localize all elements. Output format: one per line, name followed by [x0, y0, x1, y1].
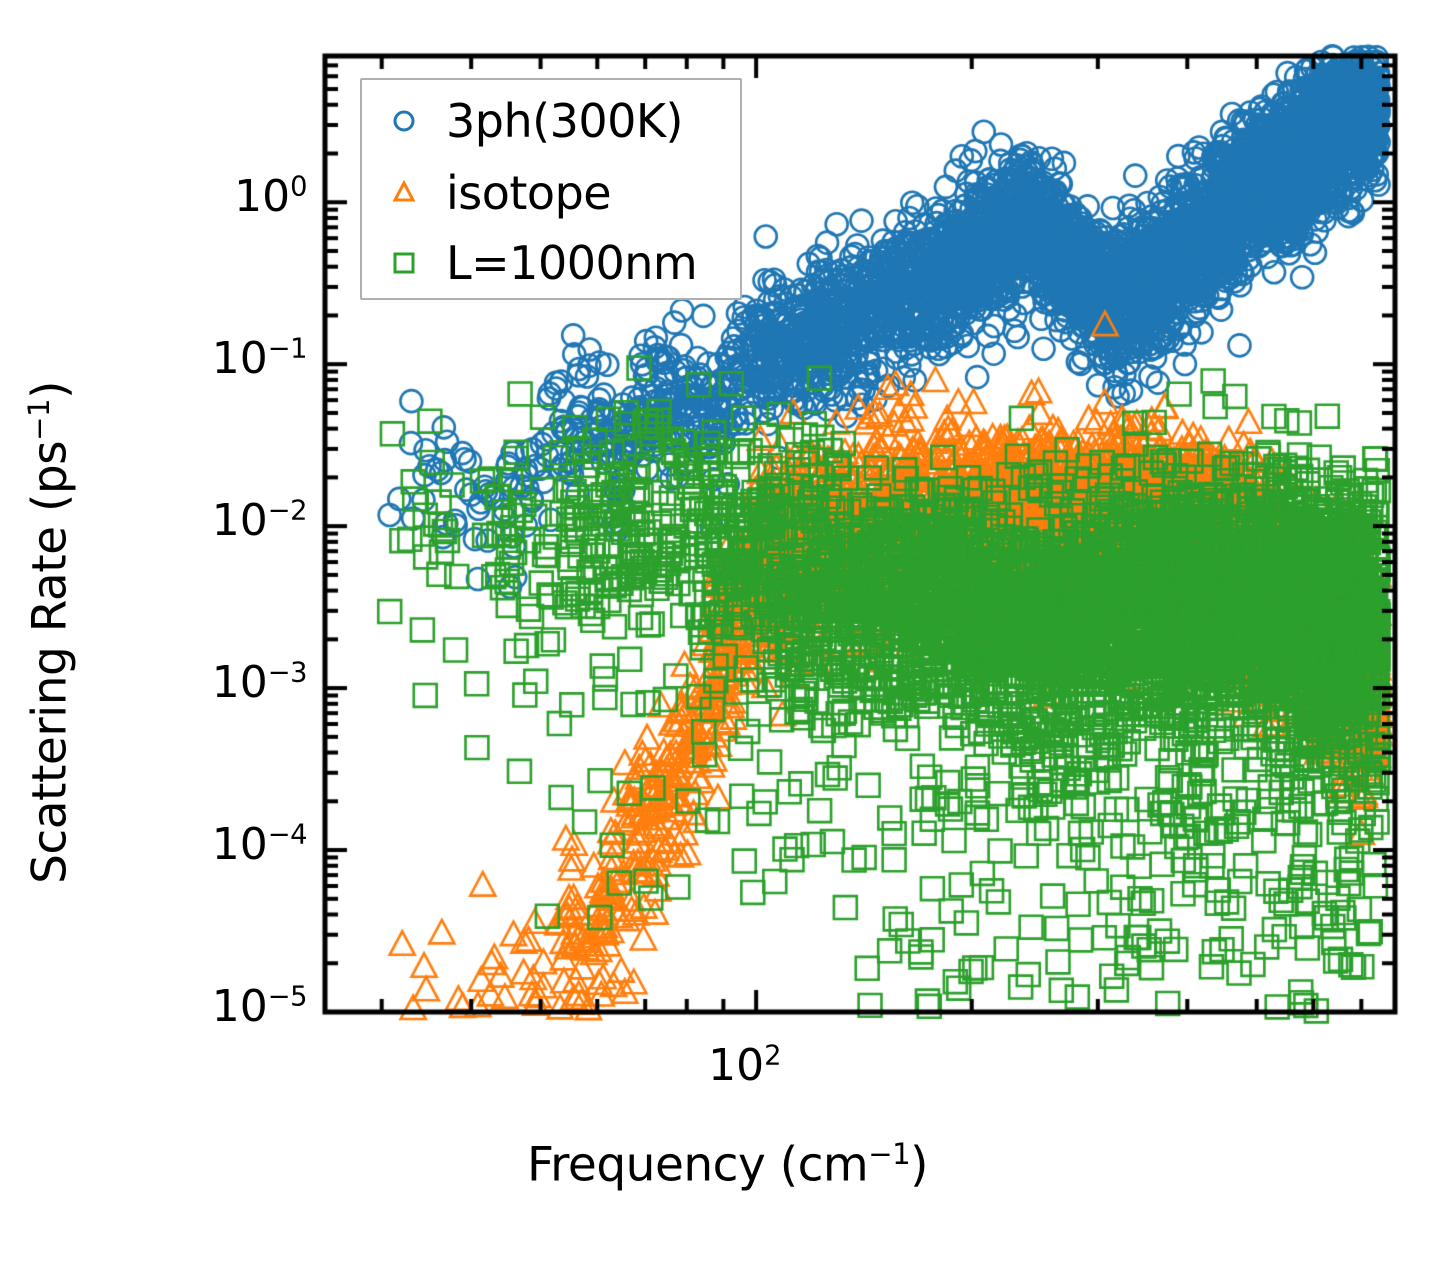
square-marker-icon: [362, 246, 446, 280]
x-axis-title-exponent: −1: [868, 1137, 910, 1171]
legend-label-3ph: 3ph(300K): [446, 94, 683, 148]
legend[interactable]: 3ph(300K) isotope L=1000nm: [360, 78, 742, 300]
legend-label-isotope: isotope: [446, 166, 611, 220]
scatter-plot-figure: Scattering Rate (ps−1) Frequency (cm−1) …: [0, 0, 1455, 1265]
y-tick-label-3: 10−3: [212, 657, 307, 708]
y-tick-label-5: 10−5: [212, 981, 307, 1032]
y-tick-label-4: 10−4: [212, 819, 307, 870]
y-tick-label-2: 10−2: [212, 495, 307, 546]
x-axis-title-base: Frequency (cm: [527, 1138, 868, 1193]
legend-entry-boundary[interactable]: L=1000nm: [362, 226, 740, 300]
legend-entry-isotope[interactable]: isotope: [362, 156, 740, 230]
x-axis-title: Frequency (cm−1): [0, 1137, 1455, 1193]
x-tick-label-0: 102: [708, 1040, 781, 1091]
x-axis-title-tail: ): [910, 1138, 928, 1193]
triangle-marker-icon: [362, 176, 446, 210]
circle-marker-icon: [362, 104, 446, 138]
y-tick-label-0: 100: [234, 171, 307, 222]
y-tick-label-1: 10−1: [212, 333, 307, 384]
legend-label-boundary: L=1000nm: [446, 236, 697, 290]
legend-entry-3ph[interactable]: 3ph(300K): [362, 84, 740, 158]
